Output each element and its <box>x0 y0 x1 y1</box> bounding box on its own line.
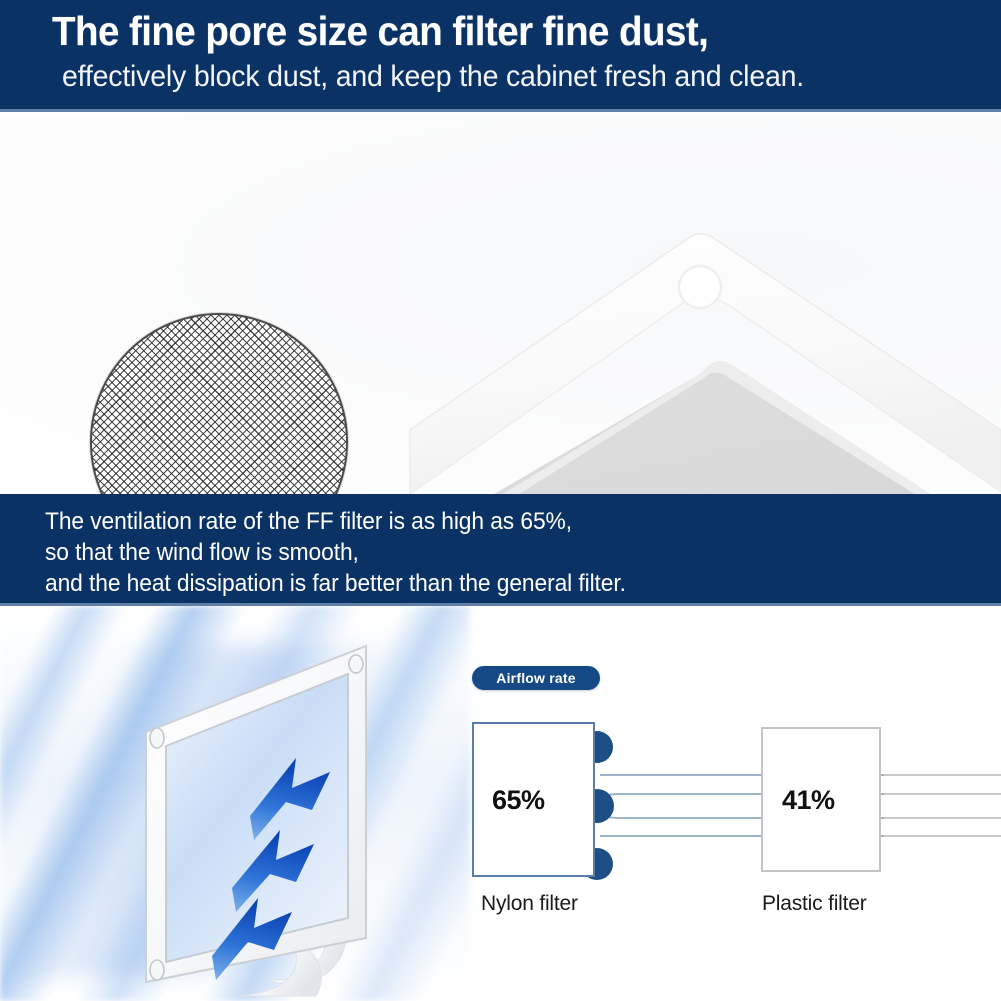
plastic-flow-lines <box>884 775 1001 836</box>
airflow-rate-badge: Airflow rate <box>472 666 600 690</box>
mesh-closeup-circle <box>90 313 348 494</box>
filter-corner-photo <box>400 230 1001 494</box>
ventilation-rate-banner: The ventilation rate of the FF filter is… <box>0 494 1001 606</box>
product-photo-band <box>0 115 1001 494</box>
plastic-left-stubs <box>718 775 760 836</box>
nylon-filter-label: Nylon filter <box>481 892 578 916</box>
page-subtitle: effectively block dust, and keep the cab… <box>62 58 954 96</box>
ventilation-line-1: The ventilation rate of the FF filter is… <box>45 494 953 537</box>
ventilation-line-2: so that the wind flow is smooth, <box>45 537 953 568</box>
filter-corner-illustration <box>400 230 1001 494</box>
nylon-airflow-value: 65% <box>492 785 545 816</box>
ventilation-line-3: and the heat dissipation is far better t… <box>45 568 953 599</box>
top-headline-banner: The fine pore size can filter fine dust,… <box>0 0 1001 112</box>
plastic-airflow-value: 41% <box>782 785 835 816</box>
plastic-filter-label: Plastic filter <box>762 892 867 916</box>
page-title: The fine pore size can filter fine dust, <box>52 6 944 56</box>
infographic-page: The fine pore size can filter fine dust,… <box>0 0 1001 1001</box>
